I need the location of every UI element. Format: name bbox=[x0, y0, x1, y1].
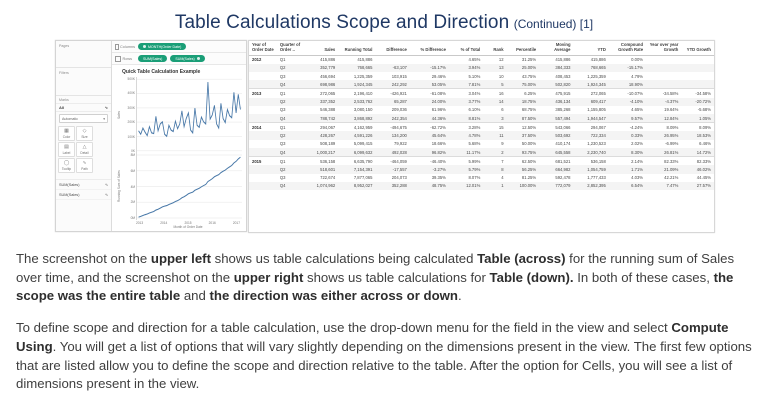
emphasis-text: upper left bbox=[151, 251, 211, 266]
cell-compound_growth_rate: 18.90% bbox=[609, 80, 646, 89]
cell-rank: 11 bbox=[483, 131, 506, 139]
cell-quarter: Q3 bbox=[277, 72, 306, 80]
body-copy: The screenshot on the upper left shows u… bbox=[0, 236, 768, 394]
cell-moving_average: 503,692 bbox=[539, 131, 573, 139]
cell-quarter: Q1 bbox=[277, 123, 306, 132]
table-row[interactable]: Q3546,3883,080,150209,03661.96%6.10%668.… bbox=[249, 106, 714, 114]
cell-running_total: 4,162,959 bbox=[338, 123, 375, 132]
cell-percentile: 68.75% bbox=[507, 106, 540, 114]
cell-running_total: 415,886 bbox=[338, 55, 375, 64]
cell-ytd_growth: 8.09% bbox=[681, 123, 714, 132]
tooltip-button-label: Tooltip bbox=[62, 167, 71, 171]
cell-sales: 272,065 bbox=[306, 89, 339, 98]
cell-running_total: 1,924,345 bbox=[338, 80, 375, 89]
cell-year: 2012 bbox=[249, 55, 277, 64]
cell-pct_of_total: 3.77% bbox=[449, 98, 483, 106]
cell-ytd: 722,334 bbox=[574, 131, 609, 139]
cell-compound_growth_rate: 4.03% bbox=[609, 174, 646, 182]
columns-shelf[interactable]: Columns MONTH(Order Date) bbox=[112, 41, 246, 53]
cell-percentile: 37.50% bbox=[507, 131, 540, 139]
cell-year bbox=[249, 80, 277, 89]
cell-running_total: 7,154,391 bbox=[338, 165, 375, 173]
col-header-percentile: Percentile bbox=[507, 41, 540, 55]
ytick: 0M bbox=[131, 216, 135, 220]
cell-pct_difference: 44.36% bbox=[410, 114, 449, 123]
table-body: 2012Q1415,886415,8864.65%1231.25%415,886… bbox=[249, 55, 714, 190]
cell-percentile: 81.25% bbox=[507, 174, 540, 182]
cell-percentile: 25.00% bbox=[507, 64, 540, 72]
mark-type-dropdown[interactable]: Automatic ▾ bbox=[59, 114, 108, 123]
col-header-rank: Rank bbox=[483, 41, 506, 55]
cell-difference: 242,292 bbox=[375, 80, 409, 89]
cell-running_total: 6,099,632 bbox=[338, 148, 375, 157]
col-header-running-total: Running Total bbox=[338, 41, 375, 55]
marks-pill-sum-sales-2[interactable]: SUM(Sales) ∿ bbox=[56, 190, 111, 200]
table-row[interactable]: Q3456,6941,225,359103,91529.46%5.10%1043… bbox=[249, 72, 714, 80]
cell-running_total: 4,591,226 bbox=[338, 131, 375, 139]
line-mark-icon: ∿ bbox=[105, 105, 108, 110]
pill-sum-sales-1[interactable]: SUM(Sales) bbox=[138, 55, 167, 62]
cell-yoy_growth bbox=[646, 64, 681, 72]
paragraph-2: To define scope and direction for a tabl… bbox=[16, 319, 752, 394]
chevron-down-icon: ▾ bbox=[103, 117, 105, 121]
cell-year bbox=[249, 140, 277, 148]
table-row[interactable]: Q3722,6747,877,065204,07339.35%8.07%481.… bbox=[249, 174, 714, 182]
path-icon: ∿ bbox=[82, 161, 86, 166]
cell-ytd: 1,924,345 bbox=[574, 80, 609, 89]
cell-compound_growth_rate: 0.33% bbox=[609, 131, 646, 139]
cell-year bbox=[249, 64, 277, 72]
rows-shelf-label-group: Rows bbox=[115, 56, 135, 62]
cell-yoy_growth: -4.37% bbox=[646, 98, 681, 106]
cell-ytd: 294,067 bbox=[574, 123, 609, 132]
cell-yoy_growth: 42.21% bbox=[646, 174, 681, 182]
path-button[interactable]: ∿ Path bbox=[76, 158, 93, 173]
cell-year bbox=[249, 131, 277, 139]
cell-percentile: 87.50% bbox=[507, 114, 540, 123]
cell-pct_difference: 53.05% bbox=[410, 80, 449, 89]
cell-compound_growth_rate: 2.14% bbox=[609, 157, 646, 166]
ytick: 400K bbox=[128, 91, 135, 95]
detail-icon: △ bbox=[83, 145, 87, 150]
cell-ytd_growth: -34.58% bbox=[681, 89, 714, 98]
cell-rank: 3 bbox=[483, 114, 506, 123]
cell-year: 2015 bbox=[249, 157, 277, 166]
col-header-pct-of-total: % of Total bbox=[449, 41, 483, 55]
cell-sales: 536,158 bbox=[306, 157, 339, 166]
cell-pct_difference bbox=[410, 55, 449, 64]
cell-pct_difference: 61.96% bbox=[410, 106, 449, 114]
ytick: 4M bbox=[131, 185, 135, 189]
cell-year: 2014 bbox=[249, 123, 277, 132]
columns-shelf-label-group: Columns bbox=[115, 44, 135, 50]
cell-pct_difference: 48.75% bbox=[410, 182, 449, 190]
cell-quarter: Q4 bbox=[277, 80, 306, 89]
cell-running_total: 1,225,359 bbox=[338, 72, 375, 80]
cell-ytd: 2,230,740 bbox=[574, 148, 609, 157]
cell-percentile: 6.25% bbox=[507, 89, 540, 98]
cell-yoy_growth bbox=[646, 55, 681, 64]
title-sub-text: (Continued) [1] bbox=[514, 17, 593, 31]
pill-sum-sales-2-label: SUM(Sales) bbox=[175, 57, 194, 61]
body-text: In both of these cases, bbox=[574, 270, 714, 285]
cell-difference bbox=[375, 55, 409, 64]
cell-sales: 415,886 bbox=[306, 55, 339, 64]
figures-strip: Pages Filters Marks All ∿ Automatic ▾ ▦ bbox=[0, 40, 768, 236]
cell-percentile: 75.00% bbox=[507, 80, 540, 89]
cell-pct_difference: 96.82% bbox=[410, 148, 449, 157]
tableau-left-panel: Pages Filters Marks All ∿ Automatic ▾ ▦ bbox=[56, 41, 112, 231]
pages-shelf[interactable]: Pages bbox=[56, 41, 111, 68]
cell-compound_growth_rate: 0.00% bbox=[609, 55, 646, 64]
cell-ytd_growth: -5.68% bbox=[681, 106, 714, 114]
cell-quarter: Q3 bbox=[277, 174, 306, 182]
cell-percentile: 43.75% bbox=[507, 72, 540, 80]
cell-moving_average: 772,079 bbox=[539, 182, 573, 190]
cell-yoy_growth: -34.58% bbox=[646, 89, 681, 98]
cell-compound_growth_rate: 6.54% bbox=[609, 182, 646, 190]
path-button-label: Path bbox=[81, 167, 88, 171]
pill-sum-sales-1-label: SUM(Sales) bbox=[143, 57, 162, 61]
grid-icon bbox=[115, 44, 119, 50]
cell-ytd: 768,665 bbox=[574, 64, 609, 72]
cell-sales: 1,000,217 bbox=[306, 148, 339, 157]
cell-yoy_growth: 19.64% bbox=[646, 106, 681, 114]
size-icon: ◇ bbox=[83, 129, 87, 134]
cell-pct_of_total: 5.10% bbox=[449, 72, 483, 80]
label-button[interactable]: ▤ Label bbox=[58, 142, 75, 157]
col-header-difference: Difference bbox=[375, 41, 409, 55]
rows-shelf-label: Rows bbox=[123, 57, 133, 61]
col-header-compound-growth-rate: Compound Growth Rate bbox=[609, 41, 646, 55]
cell-compound_growth_rate: 8.30% bbox=[609, 148, 646, 157]
marks-all-label: All bbox=[59, 105, 64, 110]
emphasis-text: upper right bbox=[234, 270, 304, 285]
cell-ytd_growth bbox=[681, 80, 714, 89]
ytick: 500K bbox=[128, 77, 135, 81]
table-row[interactable]: 2015Q1536,1586,635,790-464,059-46.40%5.9… bbox=[249, 157, 714, 166]
col-header-year: Year of Order Date bbox=[249, 41, 277, 55]
cell-rank: 4 bbox=[483, 174, 506, 182]
cell-ytd: 1,230,523 bbox=[574, 140, 609, 148]
cell-yoy_growth: 26.95% bbox=[646, 131, 681, 139]
cell-pct_difference: 18.66% bbox=[410, 140, 449, 148]
cell-rank: 8 bbox=[483, 165, 506, 173]
color-button-label: Color bbox=[63, 135, 71, 139]
ytick: 8M bbox=[131, 153, 135, 157]
cell-pct_of_total: 3.28% bbox=[449, 123, 483, 132]
cell-rank: 7 bbox=[483, 157, 506, 166]
table-row[interactable]: Q2337,3522,533,76265,28724.00%3.77%1418.… bbox=[249, 98, 714, 106]
marks-all-row[interactable]: All ∿ bbox=[56, 103, 111, 112]
cell-moving_average: 475,915 bbox=[539, 89, 573, 98]
cell-quarter: Q1 bbox=[277, 55, 306, 64]
size-button-label: Size bbox=[81, 135, 87, 139]
cell-sales: 722,674 bbox=[306, 174, 339, 182]
calendar-icon bbox=[143, 45, 146, 48]
cell-compound_growth_rate: 4.79% bbox=[609, 72, 646, 80]
cell-moving_average: 543,066 bbox=[539, 123, 573, 132]
chart-running-sum-plot bbox=[136, 153, 242, 220]
cell-ytd_growth: 82.33% bbox=[681, 157, 714, 166]
detail-button[interactable]: △ Detail bbox=[76, 142, 93, 157]
cell-ytd_growth: 1.05% bbox=[681, 114, 714, 123]
label-button-label: Label bbox=[63, 151, 71, 155]
cell-ytd_growth: 6.46% bbox=[681, 140, 714, 148]
rows-shelf[interactable]: Rows SUM(Sales) SUM(Sales) bbox=[112, 53, 246, 65]
chart-sales-ylabel: Sales bbox=[116, 77, 122, 153]
table-row[interactable]: Q4788,7423,868,892242,35444.36%8.81%387.… bbox=[249, 114, 714, 123]
chart-sales: Sales 500K 400K 300K 200K 100K 0K bbox=[116, 77, 242, 153]
cell-difference: -464,059 bbox=[375, 157, 409, 166]
line-mark-icon: ∿ bbox=[105, 182, 108, 187]
table-row[interactable]: 2013Q1272,0652,196,410-426,921-61.08%3.0… bbox=[249, 89, 714, 98]
columns-shelf-label: Columns bbox=[120, 45, 135, 49]
cell-rank: 12 bbox=[483, 55, 506, 64]
marks-button-grid: ▦ Color ◇ Size ▤ Label △ Detail bbox=[56, 125, 111, 174]
cell-percentile: 31.25% bbox=[507, 55, 540, 64]
col-header-sales: Sales bbox=[306, 41, 339, 55]
cell-pct_of_total: 5.99% bbox=[449, 157, 483, 166]
cell-pct_of_total: 4.65% bbox=[449, 55, 483, 64]
cell-yoy_growth bbox=[646, 80, 681, 89]
cell-sales: 546,388 bbox=[306, 106, 339, 114]
cell-quarter: Q4 bbox=[277, 182, 306, 190]
cell-sales: 508,189 bbox=[306, 140, 339, 148]
chart-xlabel: Month of Order Date bbox=[116, 225, 242, 229]
viz-title: Quick Table Calculation Example bbox=[122, 69, 242, 75]
cell-yoy_growth: 7.47% bbox=[646, 182, 681, 190]
table-row[interactable]: 2012Q1415,886415,8864.65%1231.25%415,886… bbox=[249, 55, 714, 64]
body-text: To define scope and direction for a tabl… bbox=[16, 320, 671, 335]
label-icon: ▤ bbox=[64, 145, 69, 150]
cell-pct_difference: -62.72% bbox=[410, 123, 449, 132]
tooltip-button[interactable]: ◯ Tooltip bbox=[58, 158, 75, 173]
cell-difference: -426,921 bbox=[375, 89, 409, 98]
body-text: shows us table calculations for bbox=[303, 270, 489, 285]
cell-percentile: 62.50% bbox=[507, 157, 540, 166]
body-text: shows us table calculations being calcul… bbox=[211, 251, 477, 266]
cell-pct_difference: -46.40% bbox=[410, 157, 449, 166]
cell-percentile: 12.50% bbox=[507, 123, 540, 132]
cell-ytd: 1,054,759 bbox=[574, 165, 609, 173]
viz-canvas: Quick Table Calculation Example Sales 50… bbox=[112, 65, 246, 231]
chart-sales-yticks: 500K 400K 300K 200K 100K 0K bbox=[122, 77, 136, 153]
cell-pct_of_total: 11.17% bbox=[449, 148, 483, 157]
cell-compound_growth_rate: 9.57% bbox=[609, 114, 646, 123]
cell-percentile: 93.75% bbox=[507, 148, 540, 157]
marks-pill-sum-sales-1[interactable]: SUM(Sales) ∿ bbox=[56, 180, 111, 190]
emphasis-text: the direction was either across or down bbox=[210, 288, 458, 303]
cell-moving_average: 592,478 bbox=[539, 174, 573, 182]
cell-rank: 13 bbox=[483, 64, 506, 72]
line-mark-icon: ∿ bbox=[105, 192, 108, 197]
cell-yoy_growth: 26.81% bbox=[646, 148, 681, 157]
cell-quarter: Q2 bbox=[277, 165, 306, 173]
filters-shelf[interactable]: Filters bbox=[56, 68, 111, 96]
cell-moving_average: 408,453 bbox=[539, 72, 573, 80]
cell-ytd_growth: 18.53% bbox=[681, 131, 714, 139]
cell-rank: 5 bbox=[483, 80, 506, 89]
cell-yoy_growth: 21.09% bbox=[646, 165, 681, 173]
cell-year bbox=[249, 106, 277, 114]
table-row[interactable]: Q4698,9861,924,345242,29253.05%7.81%575.… bbox=[249, 80, 714, 89]
cell-quarter: Q2 bbox=[277, 64, 306, 72]
cell-sales: 788,742 bbox=[306, 114, 339, 123]
cell-ytd: 1,225,359 bbox=[574, 72, 609, 80]
cell-pct_of_total: 3.04% bbox=[449, 89, 483, 98]
col-header-pct-difference: % Difference bbox=[410, 41, 449, 55]
emphasis-text: Table (down). bbox=[490, 270, 574, 285]
cell-percentile: 56.25% bbox=[507, 165, 540, 173]
table-row[interactable]: Q3508,1895,099,41579,92218.66%5.68%950.0… bbox=[249, 140, 714, 148]
table-row[interactable]: 2014Q1294,0674,162,959-494,675-62.72%3.2… bbox=[249, 123, 714, 132]
cell-yoy_growth: 12.84% bbox=[646, 114, 681, 123]
marks-label: Marks bbox=[56, 96, 111, 103]
cell-year bbox=[249, 174, 277, 182]
cell-year bbox=[249, 165, 277, 173]
cell-difference: 242,354 bbox=[375, 114, 409, 123]
body-text: The screenshot on the bbox=[16, 251, 151, 266]
body-text: and bbox=[180, 288, 209, 303]
cell-quarter: Q4 bbox=[277, 114, 306, 123]
table-row[interactable]: Q41,074,9628,952,027352,28848.75%12.01%1… bbox=[249, 182, 714, 190]
cell-year bbox=[249, 98, 277, 106]
cell-quarter: Q1 bbox=[277, 89, 306, 98]
cell-percentile: 50.00% bbox=[507, 140, 540, 148]
cell-rank: 6 bbox=[483, 106, 506, 114]
cell-difference: 352,288 bbox=[375, 182, 409, 190]
cell-pct_of_total: 6.10% bbox=[449, 106, 483, 114]
cell-difference: -17,557 bbox=[375, 165, 409, 173]
pill-sum-sales-2[interactable]: SUM(Sales) bbox=[170, 55, 204, 62]
cell-compound_growth_rate: -4.24% bbox=[609, 123, 646, 132]
cell-pct_difference: -61.08% bbox=[410, 89, 449, 98]
cell-quarter: Q3 bbox=[277, 140, 306, 148]
cell-running_total: 768,665 bbox=[338, 64, 375, 72]
table-row[interactable]: Q2428,2674,591,226134,20045.64%4.78%1137… bbox=[249, 131, 714, 139]
cell-rank: 16 bbox=[483, 89, 506, 98]
cell-sales: 352,779 bbox=[306, 64, 339, 72]
cell-ytd_growth: -20.72% bbox=[681, 98, 714, 106]
cell-rank: 1 bbox=[483, 182, 506, 190]
cell-moving_average: 502,820 bbox=[539, 80, 573, 89]
cell-percentile: 18.75% bbox=[507, 98, 540, 106]
marks-detail-pills: SUM(Sales) ∿ SUM(Sales) ∿ bbox=[56, 179, 111, 200]
table-header-row: Year of Order Date Quarter of Order .. S… bbox=[249, 41, 714, 55]
table-row[interactable]: Q2518,6017,154,391-17,557-3.27%5.79%856.… bbox=[249, 165, 714, 173]
cell-running_total: 7,877,065 bbox=[338, 174, 375, 182]
table-row[interactable]: Q41,000,2176,099,632492,02896.82%11.17%2… bbox=[249, 148, 714, 157]
pages-label: Pages bbox=[56, 41, 111, 48]
cell-compound_growth_rate: 4.65% bbox=[609, 106, 646, 114]
cell-difference: 134,200 bbox=[375, 131, 409, 139]
cell-ytd_growth bbox=[681, 64, 714, 72]
cell-pct_of_total: 8.07% bbox=[449, 174, 483, 182]
tableau-workspace-screenshot: Pages Filters Marks All ∿ Automatic ▾ ▦ bbox=[55, 40, 247, 232]
cell-running_total: 3,080,150 bbox=[338, 106, 375, 114]
color-button[interactable]: ▦ Color bbox=[58, 126, 75, 141]
ytick: 200K bbox=[128, 120, 135, 124]
cell-moving_average: 410,174 bbox=[539, 140, 573, 148]
cell-ytd: 272,065 bbox=[574, 89, 609, 98]
cell-difference: 79,922 bbox=[375, 140, 409, 148]
cell-running_total: 2,196,410 bbox=[338, 89, 375, 98]
cell-yoy_growth: 8.09% bbox=[646, 123, 681, 132]
chart-running-sum: Running Sum of Sales 8M 6M 4M 2M 0M bbox=[116, 153, 242, 229]
cell-difference: 209,036 bbox=[375, 106, 409, 114]
cell-rank: 14 bbox=[483, 98, 506, 106]
emphasis-text: Table (across) bbox=[477, 251, 565, 266]
chart-sales-plot bbox=[136, 77, 242, 153]
cell-pct_difference: 29.46% bbox=[410, 72, 449, 80]
cell-moving_average: 384,333 bbox=[539, 64, 573, 72]
cell-quarter: Q1 bbox=[277, 157, 306, 166]
tableau-main-area: Columns MONTH(Order Date) Rows SUM(Sales… bbox=[112, 41, 246, 231]
cell-sales: 698,986 bbox=[306, 80, 339, 89]
cell-pct_of_total: 5.79% bbox=[449, 165, 483, 173]
ytick: 100K bbox=[128, 135, 135, 139]
cell-sales: 294,067 bbox=[306, 123, 339, 132]
cell-ytd: 1,944,547 bbox=[574, 114, 609, 123]
cell-quarter: Q2 bbox=[277, 131, 306, 139]
cell-sales: 337,352 bbox=[306, 98, 339, 106]
cell-rank: 15 bbox=[483, 123, 506, 132]
cell-ytd: 536,158 bbox=[574, 157, 609, 166]
pill-month-order-date[interactable]: MONTH(Order Date) bbox=[138, 43, 186, 50]
pill-month-order-date-label: MONTH(Order Date) bbox=[148, 45, 181, 49]
table-row[interactable]: Q2352,779768,665-63,107-15.17%3.94%1325.… bbox=[249, 64, 714, 72]
cell-ytd_growth bbox=[681, 72, 714, 80]
cell-running_total: 6,635,790 bbox=[338, 157, 375, 166]
cell-ytd_growth bbox=[681, 55, 714, 64]
cell-moving_average: 415,886 bbox=[539, 55, 573, 64]
cell-moving_average: 645,558 bbox=[539, 148, 573, 157]
ytick: 2M bbox=[131, 200, 135, 204]
size-button[interactable]: ◇ Size bbox=[76, 126, 93, 141]
cell-moving_average: 664,982 bbox=[539, 165, 573, 173]
cell-pct_difference: 39.35% bbox=[410, 174, 449, 182]
cell-difference: 103,915 bbox=[375, 72, 409, 80]
cell-pct_difference: -3.27% bbox=[410, 165, 449, 173]
cell-ytd: 1,777,433 bbox=[574, 174, 609, 182]
cell-ytd_growth: 27.57% bbox=[681, 182, 714, 190]
title-main-text: Table Calculations Scope and Direction bbox=[175, 12, 509, 33]
page-title: Table Calculations Scope and Direction (… bbox=[0, 0, 768, 34]
cell-sales: 428,267 bbox=[306, 131, 339, 139]
tooltip-icon: ◯ bbox=[64, 161, 70, 166]
chart-running-sum-ylabel: Running Sum of Sales bbox=[116, 153, 122, 220]
cell-sales: 1,074,962 bbox=[306, 182, 339, 190]
cell-compound_growth_rate: 2.02% bbox=[609, 140, 646, 148]
cell-pct_of_total: 8.81% bbox=[449, 114, 483, 123]
cell-year bbox=[249, 182, 277, 190]
cell-difference: -494,675 bbox=[375, 123, 409, 132]
cell-pct_of_total: 3.94% bbox=[449, 64, 483, 72]
filters-label: Filters bbox=[56, 68, 111, 75]
cell-year bbox=[249, 148, 277, 157]
body-text: . bbox=[458, 288, 462, 303]
cell-quarter: Q2 bbox=[277, 98, 306, 106]
cell-pct_of_total: 4.78% bbox=[449, 131, 483, 139]
mark-type-label: Automatic bbox=[62, 117, 78, 121]
col-header-ytd: YTD bbox=[574, 41, 609, 55]
marks-card: Marks All ∿ Automatic ▾ ▦ Color ◇ bbox=[56, 96, 111, 231]
cell-moving_average: 436,134 bbox=[539, 98, 573, 106]
cell-running_total: 2,533,762 bbox=[338, 98, 375, 106]
cell-pct_of_total: 5.68% bbox=[449, 140, 483, 148]
cell-moving_average: 385,268 bbox=[539, 106, 573, 114]
